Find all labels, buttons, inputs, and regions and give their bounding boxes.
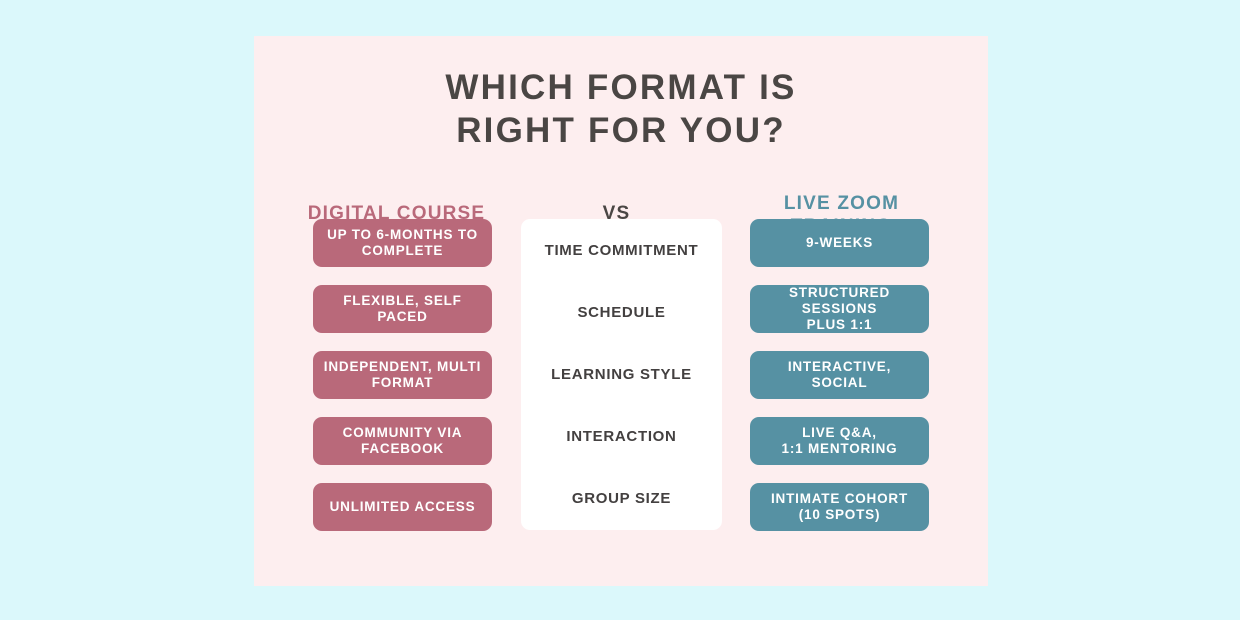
live-zoom-training-column: 9-WEEKS STRUCTURED SESSIONS PLUS 1:1 INT… [750,219,929,531]
column-header-live-zoom-training-line-1: LIVE ZOOM [784,193,899,214]
page-title-line-2: RIGHT FOR YOU? [254,109,988,152]
category-time-commitment: TIME COMMITMENT [521,219,722,281]
digital-course-column: UP TO 6-MONTHS TO COMPLETE FLEXIBLE, SEL… [313,219,492,531]
live-zoom-pill-schedule: STRUCTURED SESSIONS PLUS 1:1 [750,285,929,333]
category-schedule: SCHEDULE [521,281,722,343]
page-title-line-1: WHICH FORMAT IS [254,66,988,109]
infographic-stage: WHICH FORMAT IS RIGHT FOR YOU? DIGITAL C… [0,0,1240,620]
digital-course-pill-group-size: UNLIMITED ACCESS [313,483,492,531]
digital-course-pill-time-commitment: UP TO 6-MONTHS TO COMPLETE [313,219,492,267]
digital-course-pill-interaction: COMMUNITY VIA FACEBOOK [313,417,492,465]
digital-course-pill-learning-style: INDEPENDENT, MULTI FORMAT [313,351,492,399]
page-title: WHICH FORMAT IS RIGHT FOR YOU? [254,66,988,152]
digital-course-pill-schedule: FLEXIBLE, SELF PACED [313,285,492,333]
category-group-size: GROUP SIZE [521,468,722,530]
category-interaction: INTERACTION [521,406,722,468]
column-headers: DIGITAL COURSE VS LIVE ZOOM TRAINING [254,164,988,224]
comparison-panel: WHICH FORMAT IS RIGHT FOR YOU? DIGITAL C… [254,36,988,586]
live-zoom-pill-group-size: INTIMATE COHORT (10 SPOTS) [750,483,929,531]
category-card: TIME COMMITMENT SCHEDULE LEARNING STYLE … [521,219,722,530]
live-zoom-pill-time-commitment: 9-WEEKS [750,219,929,267]
category-learning-style: LEARNING STYLE [521,343,722,405]
live-zoom-pill-interaction: LIVE Q&A, 1:1 MENTORING [750,417,929,465]
live-zoom-pill-learning-style: INTERACTIVE, SOCIAL [750,351,929,399]
